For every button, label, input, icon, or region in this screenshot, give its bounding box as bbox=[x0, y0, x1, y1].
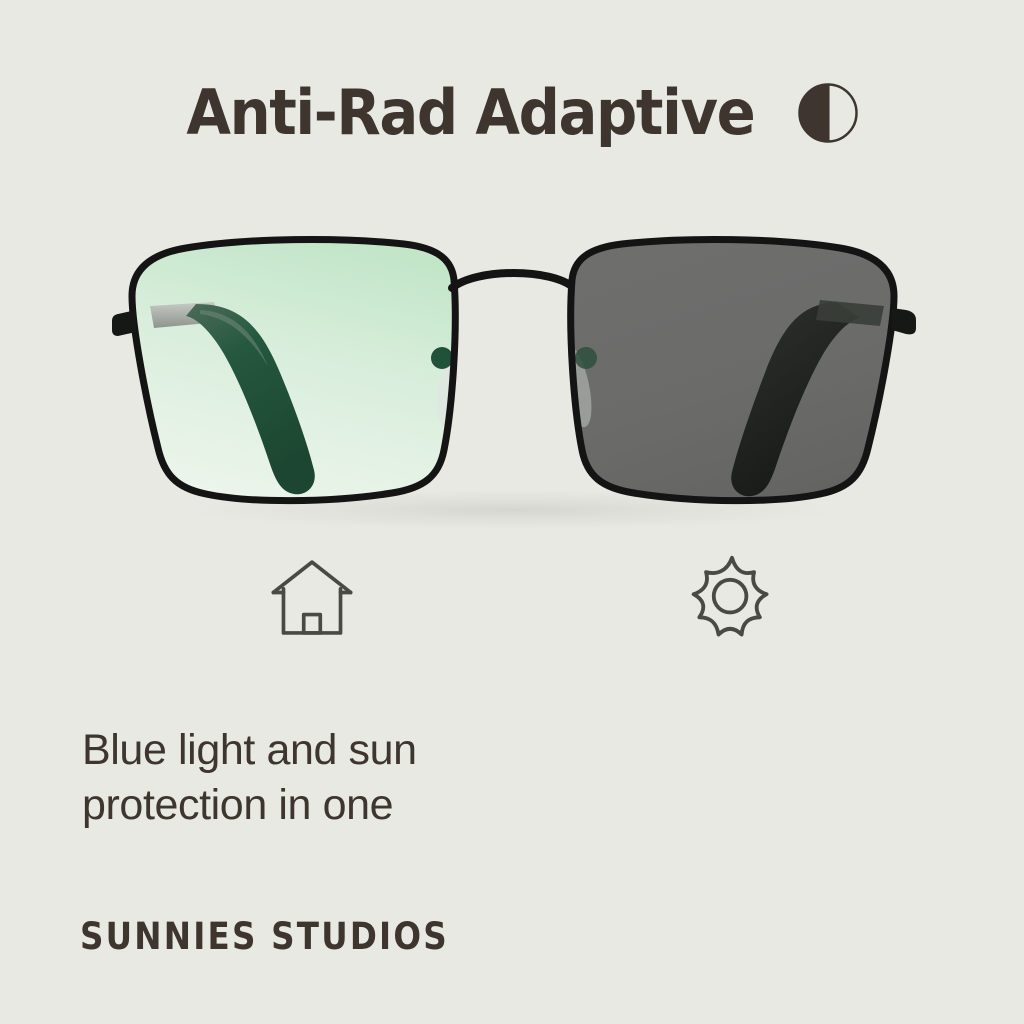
headline-row: Anti-Rad Adaptive bbox=[0, 82, 1024, 144]
page-title: Anti-Rad Adaptive bbox=[186, 82, 754, 144]
house-icon bbox=[266, 552, 358, 644]
right-pad-arm bbox=[575, 347, 597, 369]
bridge bbox=[452, 273, 574, 288]
sun-icon bbox=[684, 552, 780, 648]
tagline-line-2: protection in one bbox=[82, 778, 602, 833]
ad-canvas: Anti-Rad Adaptive bbox=[0, 0, 1024, 1024]
tagline: Blue light and sun protection in one bbox=[82, 723, 602, 833]
left-end-piece bbox=[112, 310, 136, 336]
left-pad-arm bbox=[431, 347, 453, 369]
eyeglasses-product-image bbox=[0, 218, 1024, 528]
half-filled-circle-icon bbox=[797, 82, 859, 144]
left-lens-clear bbox=[132, 239, 473, 500]
right-lens-tinted bbox=[555, 239, 894, 500]
right-end-piece bbox=[892, 308, 916, 334]
tagline-line-1: Blue light and sun bbox=[82, 723, 602, 778]
mode-icons-row bbox=[0, 552, 1024, 652]
brand-logo: SUNNIES STUDIOS bbox=[80, 918, 449, 955]
